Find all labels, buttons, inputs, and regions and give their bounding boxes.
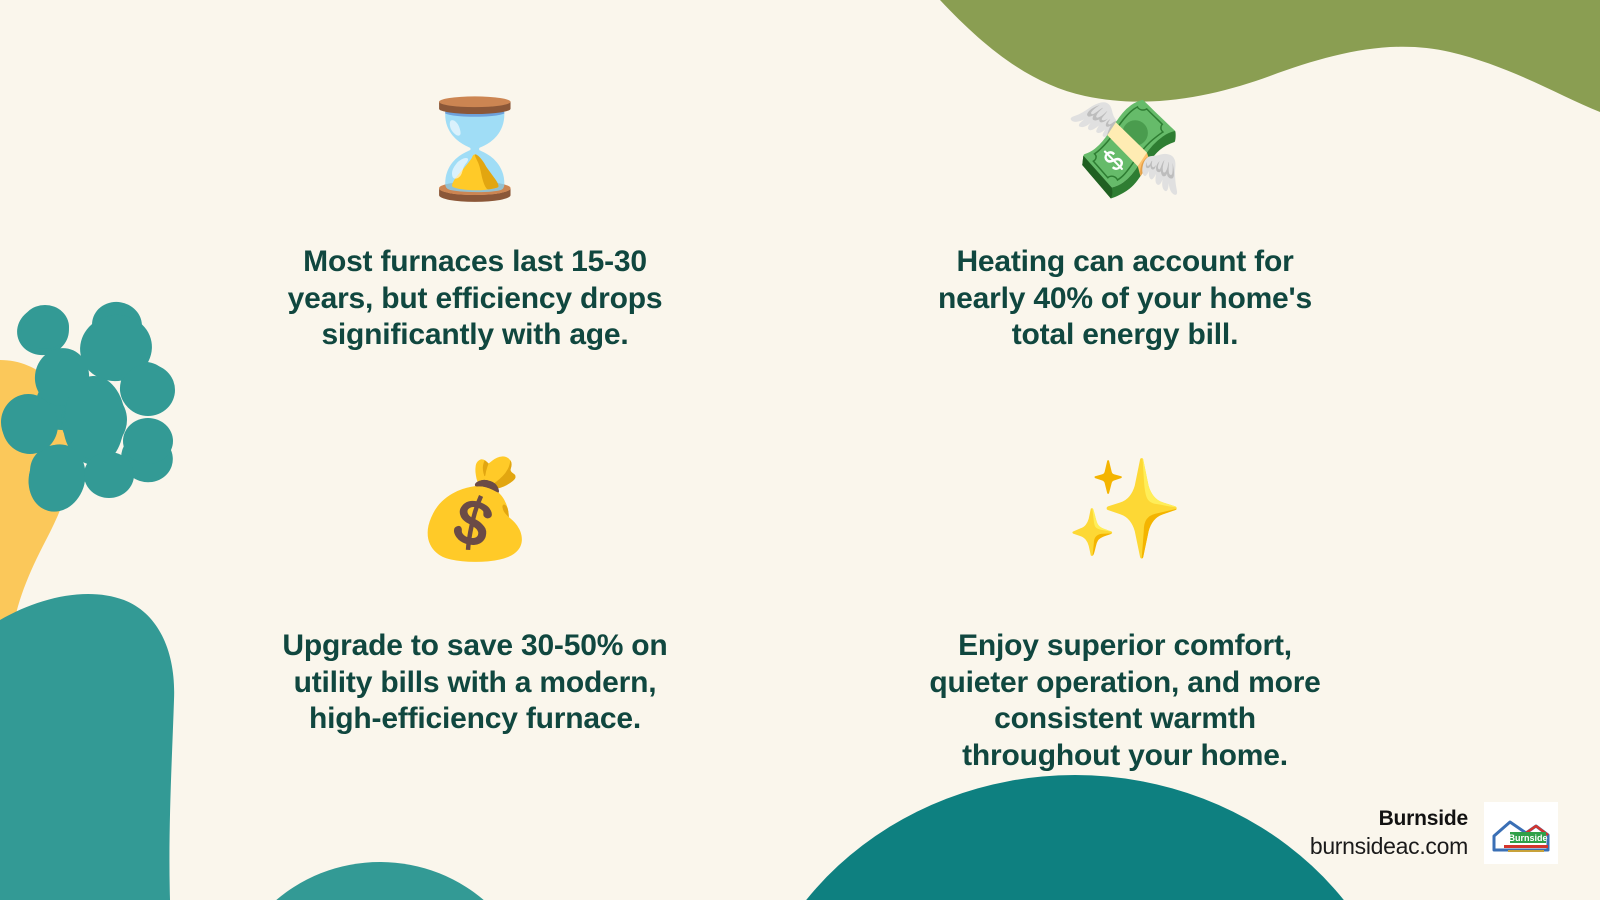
fact-card-grid: ⌛ Most furnaces last 15-30 years, but ef… [0, 0, 1600, 900]
brand-text: Burnside burnsideac.com [1310, 806, 1468, 861]
fact-card-text: Upgrade to save 30-50% on utility bills … [265, 628, 685, 738]
infographic-canvas: ⌛ Most furnaces last 15-30 years, but ef… [0, 0, 1600, 900]
hourglass-icon: ⌛ [415, 90, 535, 210]
money-bag-icon: 💰 [415, 450, 535, 570]
brand-url[interactable]: burnsideac.com [1310, 832, 1468, 861]
fact-card-text: Enjoy superior comfort, quieter operatio… [915, 628, 1335, 774]
money-with-wings-icon: 💸 [1065, 90, 1185, 210]
fact-card-text: Heating can account for nearly 40% of yo… [915, 244, 1335, 354]
fact-card-upgrade-savings: 💰 Upgrade to save 30-50% on utility bill… [150, 410, 800, 780]
fact-card-heating-energy-share: 💸 Heating can account for nearly 40% of … [800, 40, 1450, 410]
fact-card-furnace-lifespan: ⌛ Most furnaces last 15-30 years, but ef… [150, 40, 800, 410]
burnside-house-logo-icon: Burnside [1484, 802, 1558, 864]
brand-logo-wordmark: Burnside [1508, 833, 1547, 843]
brand-name: Burnside [1310, 806, 1468, 832]
sparkles-icon: ✨ [1065, 450, 1185, 570]
brand-block: Burnside burnsideac.com Burnside [1310, 802, 1558, 864]
brand-logo: Burnside [1484, 802, 1558, 864]
fact-card-comfort-benefits: ✨ Enjoy superior comfort, quieter operat… [800, 410, 1450, 780]
fact-card-text: Most furnaces last 15-30 years, but effi… [265, 244, 685, 354]
